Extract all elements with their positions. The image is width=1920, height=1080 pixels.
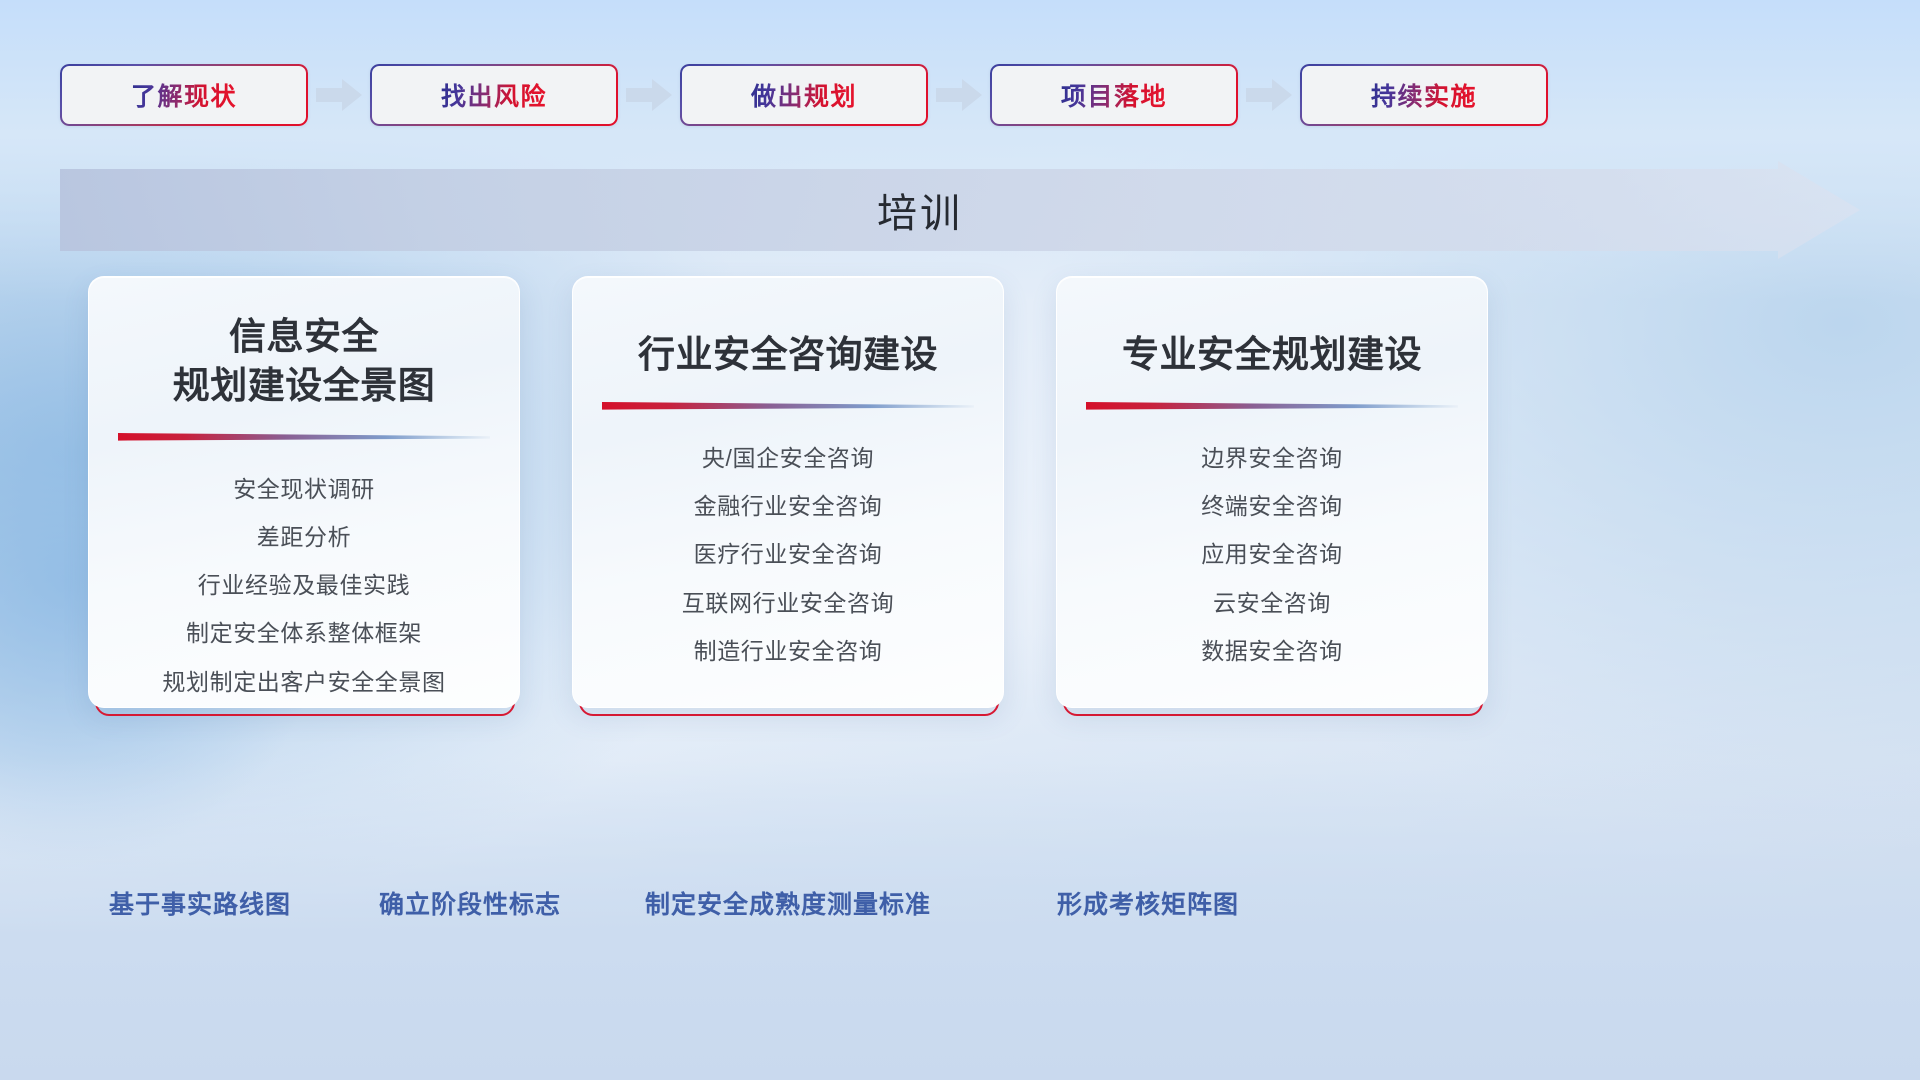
card-list-item[interactable]: 应用安全咨询 xyxy=(1201,534,1343,574)
card-list-item[interactable]: 互联网行业安全咨询 xyxy=(682,583,894,623)
card-list-item[interactable]: 安全现状调研 xyxy=(233,469,375,509)
card-list-item[interactable]: 金融行业安全咨询 xyxy=(694,486,883,526)
step-connector-arrow xyxy=(618,64,680,126)
card-slot-2: 行业安全咨询建设 央/国企安全咨询金融行业安全咨询医疗行业安全咨询互联网行业安全… xyxy=(572,276,1004,716)
card-list-item[interactable]: 医疗行业安全咨询 xyxy=(694,534,883,574)
card-item-list: 安全现状调研差距分析行业经验及最佳实践制定安全体系整体框架规划制定出客户安全全景… xyxy=(89,469,519,702)
card-item-list: 边界安全咨询终端安全咨询应用安全咨询云安全咨询数据安全咨询 xyxy=(1057,438,1487,671)
card-title: 行业安全咨询建设 xyxy=(638,331,938,380)
step-box-1[interactable]: 了解现状 xyxy=(60,64,308,126)
step-connector-arrow xyxy=(1238,64,1300,126)
chevron-right-arrow-icon xyxy=(626,78,672,112)
gradient-divider-icon xyxy=(1086,402,1458,410)
card-title: 专业安全规划建设 xyxy=(1122,331,1422,380)
step-box-4[interactable]: 项目落地 xyxy=(990,64,1238,126)
card-list-item[interactable]: 数据安全咨询 xyxy=(1201,631,1343,671)
bottom-label-3: 制定安全成熟度测量标准 xyxy=(645,885,931,921)
card-3[interactable]: 专业安全规划建设 边界安全咨询终端安全咨询应用安全咨询云安全咨询数据安全咨询 xyxy=(1056,276,1488,708)
card-list-item[interactable]: 制定安全体系整体框架 xyxy=(186,613,422,653)
card-list-item[interactable]: 央/国企安全咨询 xyxy=(702,438,874,478)
step-label: 找出风险 xyxy=(441,77,547,113)
step-box-3[interactable]: 做出规划 xyxy=(680,64,928,126)
process-step-row: 了解现状 找出风险 做出规划 项目落地 持续实施 xyxy=(60,64,1860,126)
card-slot-1: 信息安全 规划建设全景图 安全现状调研差距分析行业经验及最佳实践制定安全体系整体… xyxy=(88,276,520,716)
card-row: 信息安全 规划建设全景图 安全现状调研差距分析行业经验及最佳实践制定安全体系整体… xyxy=(88,276,1838,716)
card-2[interactable]: 行业安全咨询建设 央/国企安全咨询金融行业安全咨询医疗行业安全咨询互联网行业安全… xyxy=(572,276,1004,708)
card-1[interactable]: 信息安全 规划建设全景图 安全现状调研差距分析行业经验及最佳实践制定安全体系整体… xyxy=(88,276,520,708)
card-slot-3: 专业安全规划建设 边界安全咨询终端安全咨询应用安全咨询云安全咨询数据安全咨询 xyxy=(1056,276,1488,716)
step-label: 项目落地 xyxy=(1061,77,1167,113)
chevron-right-arrow-icon xyxy=(316,78,362,112)
gradient-divider-icon xyxy=(602,402,974,410)
card-list-item[interactable]: 差距分析 xyxy=(257,517,351,557)
step-label: 持续实施 xyxy=(1371,77,1477,113)
bottom-label-1: 基于事实路线图 xyxy=(109,885,291,921)
step-label: 做出规划 xyxy=(751,77,857,113)
training-banner: 培训 xyxy=(60,161,1860,259)
bottom-label-row: 基于事实路线图确立阶段性标志制定安全成熟度测量标准形成考核矩阵图 xyxy=(0,885,1920,945)
chevron-right-arrow-icon xyxy=(936,78,982,112)
card-list-item[interactable]: 边界安全咨询 xyxy=(1201,438,1343,478)
card-title: 信息安全 规划建设全景图 xyxy=(173,313,436,411)
step-connector-arrow xyxy=(308,64,370,126)
chevron-right-arrow-icon xyxy=(1246,78,1292,112)
card-list-item[interactable]: 云安全咨询 xyxy=(1213,583,1331,623)
card-list-item[interactable]: 制造行业安全咨询 xyxy=(694,631,883,671)
bottom-label-4: 形成考核矩阵图 xyxy=(1057,885,1239,921)
step-connector-arrow xyxy=(928,64,990,126)
card-list-item[interactable]: 行业经验及最佳实践 xyxy=(198,565,410,605)
step-box-2[interactable]: 找出风险 xyxy=(370,64,618,126)
step-box-5[interactable]: 持续实施 xyxy=(1300,64,1548,126)
card-list-item[interactable]: 规划制定出客户安全全景图 xyxy=(162,662,445,702)
banner-title: 培训 xyxy=(60,161,1860,259)
card-list-item[interactable]: 终端安全咨询 xyxy=(1201,486,1343,526)
step-label: 了解现状 xyxy=(131,77,237,113)
card-item-list: 央/国企安全咨询金融行业安全咨询医疗行业安全咨询互联网行业安全咨询制造行业安全咨… xyxy=(573,438,1003,671)
gradient-divider-icon xyxy=(118,433,490,441)
bottom-label-2: 确立阶段性标志 xyxy=(379,885,561,921)
